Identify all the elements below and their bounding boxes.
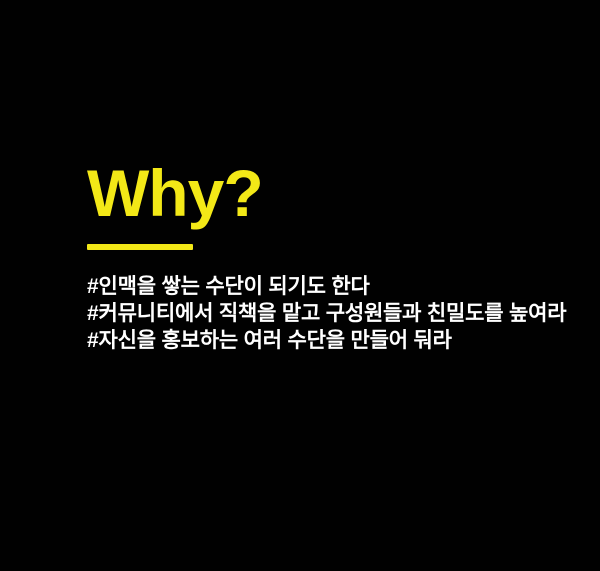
- page-title: Why?: [87, 160, 587, 226]
- list-item: #인맥을 쌓는 수단이 되기도 한다: [87, 273, 587, 300]
- title-underline-rule: [87, 244, 193, 250]
- list-item: #커뮤니티에서 직책을 맡고 구성원들과 친밀도를 높여라: [87, 300, 587, 327]
- list-item: #자신을 홍보하는 여러 수단을 만들어 둬라: [87, 327, 587, 354]
- slide-canvas: Why? #인맥을 쌓는 수단이 되기도 한다 #커뮤니티에서 직책을 맡고 구…: [0, 0, 600, 571]
- slide-content: Why? #인맥을 쌓는 수단이 되기도 한다 #커뮤니티에서 직책을 맡고 구…: [87, 160, 587, 354]
- bullet-list: #인맥을 쌓는 수단이 되기도 한다 #커뮤니티에서 직책을 맡고 구성원들과 …: [87, 273, 587, 354]
